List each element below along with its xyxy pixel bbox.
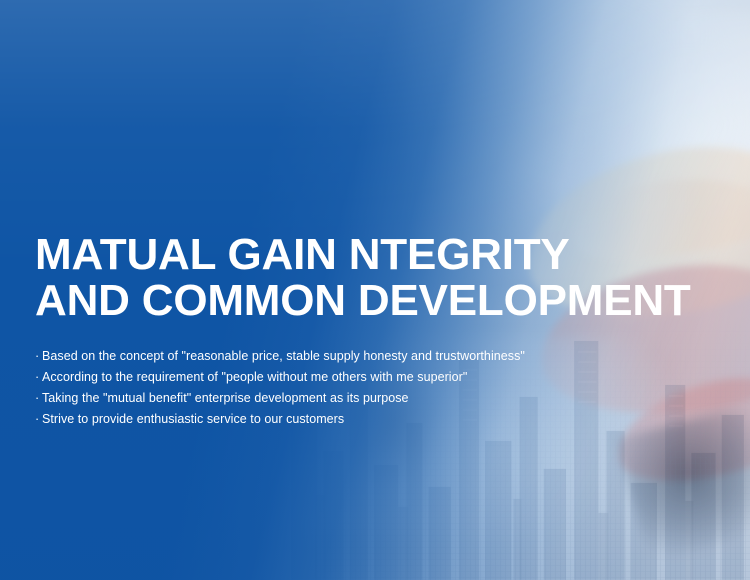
philosophy-bullet-list: ·Based on the concept of "reasonable pri… [35,346,595,430]
headline-line-1: MATUAL GAIN NTEGRITY [35,232,595,278]
bullet-dot-icon: · [35,367,42,388]
list-item-label: Strive to provide enthusiastic service t… [42,412,344,426]
banner-content: MATUAL GAIN NTEGRITY AND COMMON DEVELOPM… [35,232,595,430]
list-item: ·Strive to provide enthusiastic service … [35,409,595,430]
list-item-label: Taking the "mutual benefit" enterprise d… [42,391,409,405]
bullet-dot-icon: · [35,388,42,409]
page-title: MATUAL GAIN NTEGRITY AND COMMON DEVELOPM… [35,232,595,324]
list-item-label: According to the requirement of "people … [42,370,467,384]
philosophy-banner: MATUAL GAIN NTEGRITY AND COMMON DEVELOPM… [0,0,750,580]
list-item-label: Based on the concept of "reasonable pric… [42,349,525,363]
bullet-dot-icon: · [35,346,42,367]
list-item: ·Taking the "mutual benefit" enterprise … [35,388,595,409]
list-item: ·Based on the concept of "reasonable pri… [35,346,595,367]
list-item: ·According to the requirement of "people… [35,367,595,388]
bullet-dot-icon: · [35,409,42,430]
headline-line-2: AND COMMON DEVELOPMENT [35,278,595,324]
